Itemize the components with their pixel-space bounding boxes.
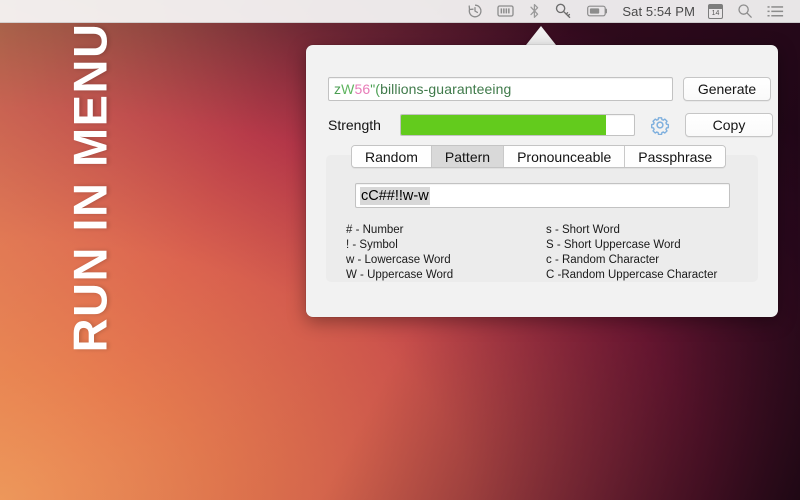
- legend-item: S - Short Uppercase Word: [546, 238, 746, 253]
- calendar-icon[interactable]: 14: [701, 0, 730, 23]
- pattern-legend-right-column: s - Short Word S - Short Uppercase Word …: [546, 223, 746, 283]
- strength-meter-fill: [401, 115, 606, 135]
- pattern-input[interactable]: cC##!!w-w: [355, 183, 730, 208]
- menu-bar: Sat 5:54 PM 14: [0, 0, 800, 23]
- gear-icon[interactable]: [649, 114, 671, 136]
- bluetooth-icon[interactable]: [522, 0, 547, 23]
- password-segment-5: billions-guaranteeing: [380, 81, 511, 97]
- strength-meter: [400, 114, 635, 136]
- wallpaper-caption: RUN IN MENU: [63, 0, 118, 398]
- legend-item: w - Lowercase Word: [346, 253, 546, 268]
- popover-arrow: [526, 26, 556, 45]
- battery-icon[interactable]: [580, 0, 616, 23]
- menubar-clock[interactable]: Sat 5:54 PM: [616, 4, 701, 19]
- key-icon[interactable]: [547, 0, 580, 23]
- copy-button[interactable]: Copy: [685, 113, 773, 137]
- legend-item: ! - Symbol: [346, 238, 546, 253]
- legend-item: s - Short Word: [546, 223, 746, 238]
- password-segment-1: z: [334, 81, 341, 97]
- search-icon[interactable]: [730, 0, 760, 23]
- mode-tab-bar: Random Pattern Pronounceable Passphrase: [351, 145, 726, 168]
- tab-pattern[interactable]: Pattern: [432, 146, 504, 167]
- password-segment-4: "(: [370, 81, 380, 97]
- tab-pronounceable[interactable]: Pronounceable: [504, 146, 625, 167]
- password-row: zW56"(billions-guaranteeing Generate: [328, 77, 771, 101]
- legend-item: C -Random Uppercase Character: [546, 268, 746, 283]
- calendar-day-number: 14: [709, 9, 722, 18]
- password-segment-2: W: [341, 81, 354, 97]
- tab-passphrase[interactable]: Passphrase: [625, 146, 725, 167]
- strength-row: Strength Copy: [328, 113, 773, 137]
- generate-button[interactable]: Generate: [683, 77, 771, 101]
- legend-item: c - Random Character: [546, 253, 746, 268]
- legend-item: W - Uppercase Word: [346, 268, 546, 283]
- tab-random[interactable]: Random: [352, 146, 432, 167]
- screen: RUN IN MENU: [0, 0, 800, 500]
- password-output-field[interactable]: zW56"(billions-guaranteeing: [328, 77, 673, 101]
- pattern-input-value: cC##!!w-w: [360, 187, 430, 205]
- pattern-legend-left-column: # - Number ! - Symbol w - Lowercase Word…: [346, 223, 546, 283]
- pattern-legend: # - Number ! - Symbol w - Lowercase Word…: [346, 223, 746, 283]
- legend-item: # - Number: [346, 223, 546, 238]
- time-machine-icon[interactable]: [460, 0, 490, 23]
- keyboard-battery-icon[interactable]: [490, 0, 522, 23]
- notification-center-icon[interactable]: [760, 0, 791, 23]
- tab-content-panel: cC##!!w-w # - Number ! - Symbol w - Lowe…: [326, 155, 758, 282]
- password-generator-popover: zW56"(billions-guaranteeing Generate Str…: [306, 45, 778, 317]
- strength-label: Strength: [328, 117, 400, 133]
- password-segment-3: 56: [354, 81, 370, 97]
